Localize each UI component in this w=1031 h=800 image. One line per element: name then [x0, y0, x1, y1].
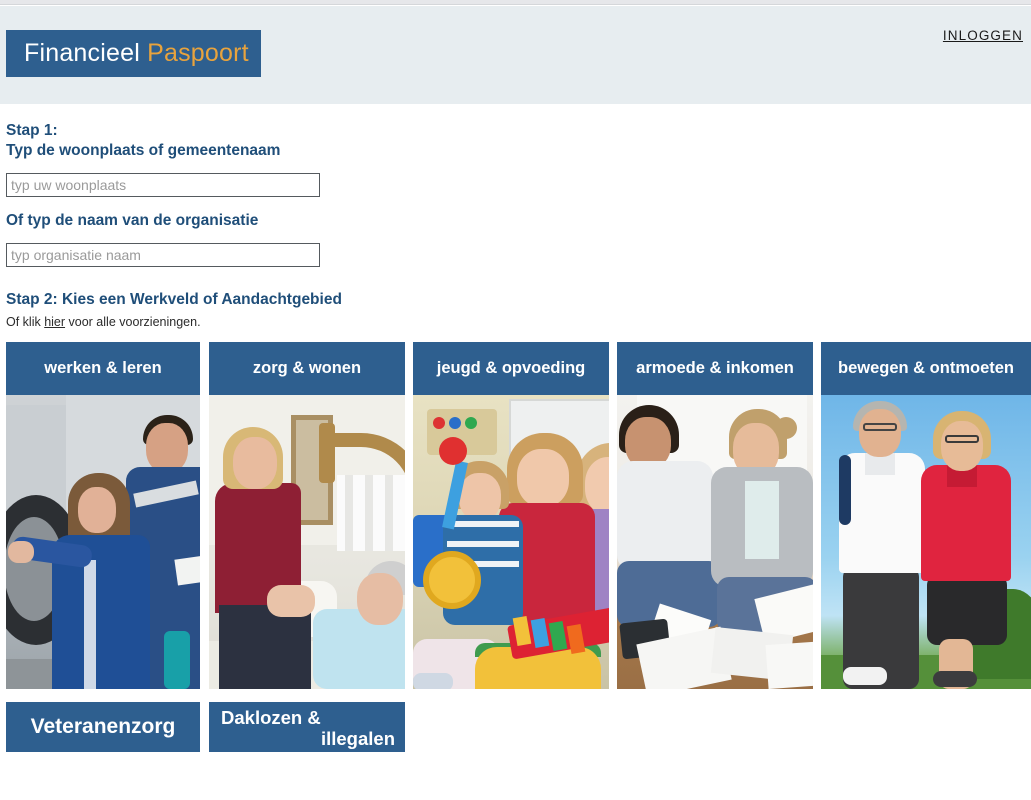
card-bewegen-ontmoeten[interactable]: bewegen & ontmoeten — [821, 342, 1031, 689]
login-link[interactable]: INLOGGEN — [943, 28, 1023, 43]
card-jeugd-opvoeding-label: jeugd & opvoeding — [413, 342, 609, 395]
site-logo[interactable]: Financieel Paspoort — [6, 30, 261, 77]
tile-veteranenzorg[interactable]: Veteranenzorg — [6, 702, 200, 752]
card-werken-leren-label: werken & leren — [6, 342, 200, 395]
card-jeugd-opvoeding[interactable]: jeugd & opvoeding — [413, 342, 609, 689]
card-bewegen-ontmoeten-image — [821, 395, 1031, 689]
card-armoede-inkomen[interactable]: armoede & inkomen — [617, 342, 813, 689]
card-zorg-wonen[interactable]: zorg & wonen — [209, 342, 405, 689]
step2-title: Stap 2: Kies een Werkveld of Aandachtgeb… — [0, 291, 1031, 309]
step1-section: Stap 1: Typ de woonplaats of gemeentenaa… — [0, 104, 1031, 267]
woonplaats-input[interactable] — [6, 173, 320, 197]
organisatie-label: Of typ de naam van de organisatie — [0, 211, 1031, 231]
card-armoede-inkomen-label: armoede & inkomen — [617, 342, 813, 395]
tile-daklozen-line2: illegalen — [221, 728, 395, 749]
alle-voorzieningen-hint: Of klik hier voor alle voorzieningen. — [0, 315, 1031, 329]
step1-subtitle: Typ de woonplaats of gemeentenaam — [0, 141, 1031, 161]
card-jeugd-opvoeding-image — [413, 395, 609, 689]
tile-daklozen-illegalen[interactable]: Daklozen & illegalen — [209, 702, 405, 752]
card-armoede-inkomen-image — [617, 395, 813, 689]
top-strip — [0, 0, 1031, 5]
card-bewegen-ontmoeten-label: bewegen & ontmoeten — [821, 342, 1031, 395]
hint-text-before: Of klik — [6, 315, 44, 329]
logo-text-paspoort: Paspoort — [147, 39, 249, 67]
step2-section: Stap 2: Kies een Werkveld of Aandachtgeb… — [0, 267, 1031, 329]
hint-text-after: voor alle voorzieningen. — [65, 315, 201, 329]
step1-title: Stap 1: — [0, 121, 1031, 141]
main-content: Stap 1: Typ de woonplaats of gemeentenaa… — [0, 104, 1031, 329]
organisatie-input[interactable] — [6, 243, 320, 267]
card-zorg-wonen-label: zorg & wonen — [209, 342, 405, 395]
card-werken-leren-image — [6, 395, 200, 689]
card-zorg-wonen-image — [209, 395, 405, 689]
logo-text-financieel: Financieel — [24, 39, 140, 67]
tile-daklozen-line1: Daklozen & — [221, 707, 395, 728]
tile-veteranenzorg-label: Veteranenzorg — [6, 702, 200, 752]
werkveld-card-grid: werken & leren zorg & wonen — [0, 342, 1031, 690]
hier-link[interactable]: hier — [44, 315, 65, 329]
page-root: Financieel Paspoort INLOGGEN Stap 1: Typ… — [0, 0, 1031, 800]
logo-text: Financieel Paspoort — [6, 39, 249, 68]
card-werken-leren[interactable]: werken & leren — [6, 342, 200, 689]
site-header: Financieel Paspoort INLOGGEN — [0, 6, 1031, 104]
